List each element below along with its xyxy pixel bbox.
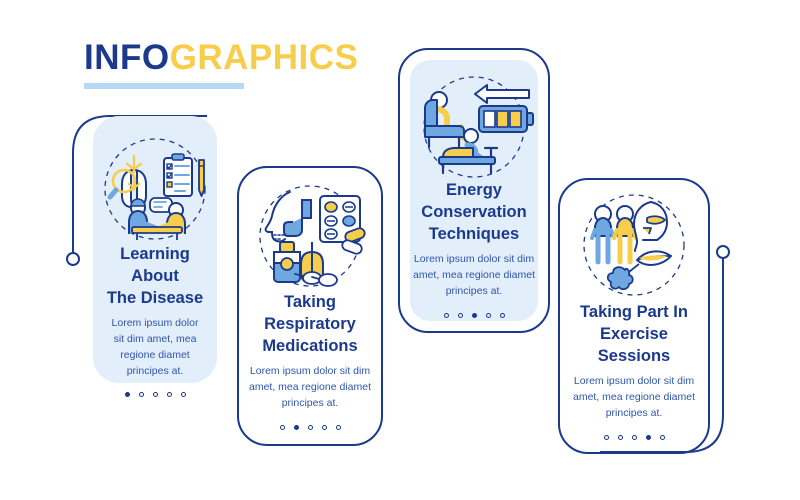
card-title: Taking Respiratory Medications [237, 292, 383, 357]
card-taking-part-in-exercise-sessions[interactable]: Taking Part In Exercise Sessions Lorem i… [558, 178, 710, 454]
step-dot[interactable] [153, 392, 158, 397]
card-description: Lorem ipsum dolor sit dim amet, mea regi… [237, 364, 383, 411]
card-icon-container [398, 74, 550, 180]
step-dot[interactable] [632, 435, 637, 440]
card-learning-about-the-disease[interactable]: Learning About The Disease Lorem ipsum d… [93, 116, 217, 383]
card-icon-container [558, 192, 710, 298]
card-description: Lorem ipsum dolor sit dim amet, mea regi… [398, 252, 550, 299]
title-underline-bar [84, 83, 244, 89]
card-step-dots[interactable] [93, 392, 217, 397]
step-dot[interactable] [280, 425, 285, 430]
card-icon-container [93, 134, 217, 244]
card-title-line: Sessions [566, 346, 702, 368]
step-dot[interactable] [139, 392, 144, 397]
step-dot[interactable] [336, 425, 341, 430]
page-title-primary: INFO [84, 38, 170, 77]
lungs-diagnosis-icon [96, 134, 214, 244]
step-dot[interactable] [308, 425, 313, 430]
step-dot[interactable] [444, 313, 449, 318]
card-title-line: About [101, 266, 209, 288]
step-dot[interactable] [181, 392, 186, 397]
card-icon-container [237, 182, 383, 290]
card-title-line: Energy [406, 180, 542, 202]
card-title-line: Learning [101, 244, 209, 266]
page-title-secondary: GRAPHICS [170, 38, 359, 77]
card-step-dots[interactable] [398, 313, 550, 318]
step-dot[interactable] [167, 392, 172, 397]
card-taking-respiratory-medications[interactable]: Taking Respiratory Medications Lorem ips… [237, 166, 383, 446]
step-dot[interactable] [486, 313, 491, 318]
step-dot[interactable] [294, 425, 299, 430]
card-title-line: The Disease [101, 288, 209, 310]
card-title-line: Respiratory [245, 314, 375, 336]
card-title-line: Taking [245, 292, 375, 314]
energy-conservation-icon [413, 74, 535, 180]
card-title-line: Medications [245, 336, 375, 358]
card-title: Energy Conservation Techniques [398, 180, 550, 245]
card-title: Learning About The Disease [93, 244, 217, 309]
step-dot[interactable] [604, 435, 609, 440]
exercise-sessions-icon [573, 192, 695, 298]
card-content: Learning About The Disease Lorem ipsum d… [93, 244, 217, 397]
step-dot[interactable] [458, 313, 463, 318]
step-dot[interactable] [472, 313, 477, 318]
respiratory-medication-icon [250, 182, 370, 290]
step-dot[interactable] [500, 313, 505, 318]
card-step-dots[interactable] [558, 435, 710, 440]
card-content: Energy Conservation Techniques Lorem ips… [398, 180, 550, 318]
card-title-line: Exercise [566, 324, 702, 346]
card-content: Taking Respiratory Medications Lorem ips… [237, 292, 383, 430]
step-dot[interactable] [660, 435, 665, 440]
step-dot[interactable] [322, 425, 327, 430]
step-dot[interactable] [125, 392, 130, 397]
card-title: Taking Part In Exercise Sessions [558, 302, 710, 367]
card-description: Lorem ipsum dolor sit dim amet, mea regi… [558, 374, 710, 421]
card-title-line: Techniques [406, 224, 542, 246]
card-content: Taking Part In Exercise Sessions Lorem i… [558, 302, 710, 440]
card-title-line: Conservation [406, 202, 542, 224]
card-step-dots[interactable] [237, 425, 383, 430]
card-energy-conservation-techniques[interactable]: Energy Conservation Techniques Lorem ips… [398, 48, 550, 333]
connector-end-circle [717, 246, 729, 258]
connector-start-circle [67, 253, 79, 265]
step-dot[interactable] [618, 435, 623, 440]
card-description: Lorem ipsum dolor sit dim amet, mea regi… [93, 316, 217, 379]
step-dot[interactable] [646, 435, 651, 440]
card-title-line: Taking Part In [566, 302, 702, 324]
